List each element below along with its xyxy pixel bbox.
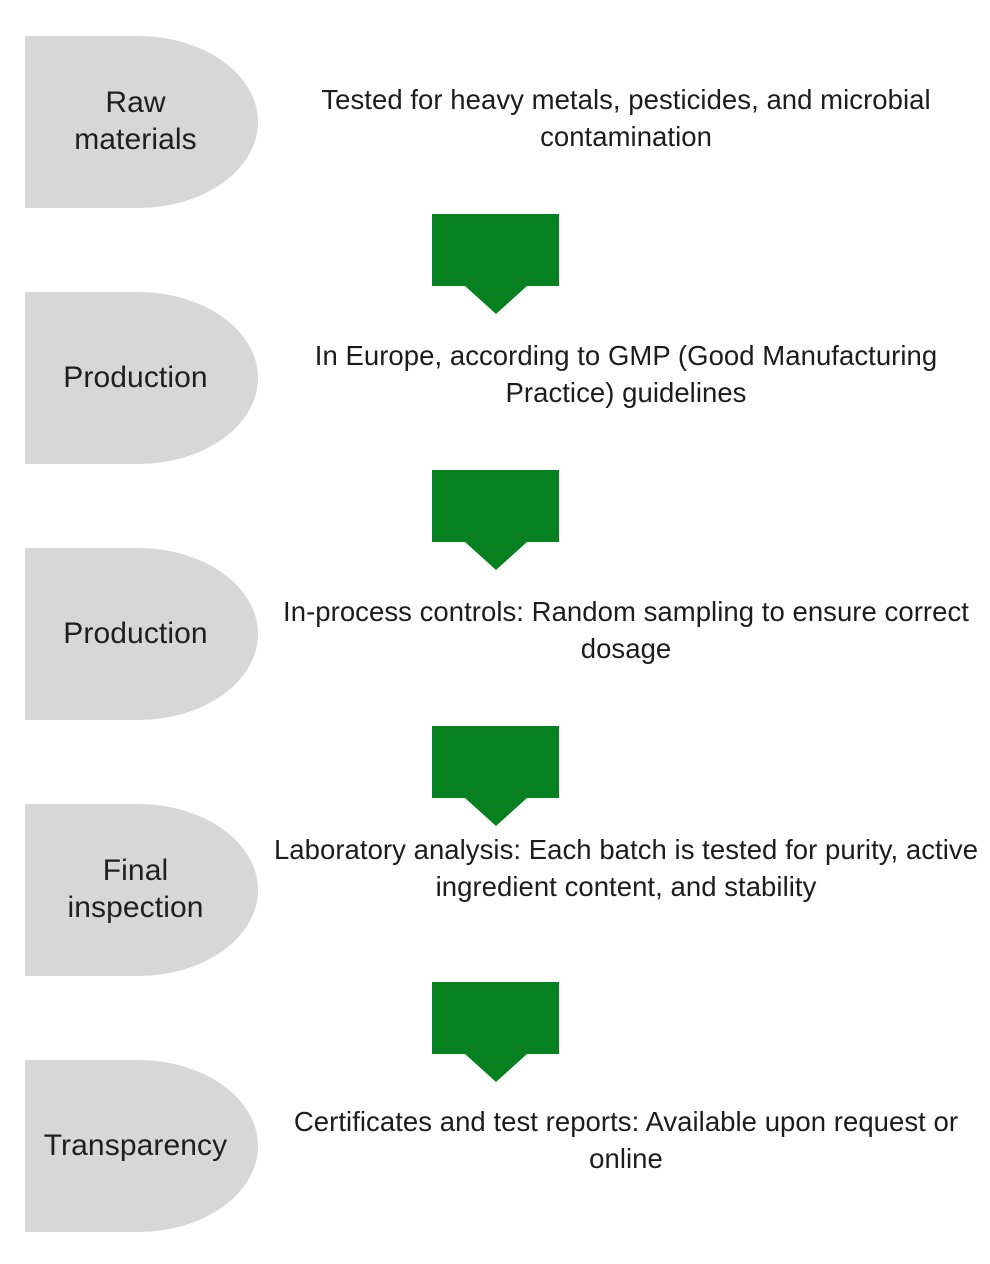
stage-label: Final inspection <box>67 853 203 926</box>
arrow-body <box>432 470 559 542</box>
arrow-tip <box>465 286 527 314</box>
arrow-tip <box>465 542 527 570</box>
arrow-tip <box>465 798 527 826</box>
arrow-tip <box>465 1054 527 1082</box>
process-flow-diagram: Raw materials Tested for heavy metals, p… <box>0 0 990 1264</box>
arrow-3-icon <box>432 726 559 826</box>
arrow-1-icon <box>432 214 559 314</box>
stage-label: Production <box>63 360 207 397</box>
arrow-2-icon <box>432 470 559 570</box>
stage-description-transparency: Certificates and test reports: Available… <box>268 1104 984 1177</box>
stage-description-final-inspection: Laboratory analysis: Each batch is teste… <box>268 832 984 905</box>
arrow-body <box>432 726 559 798</box>
stage-description-production-1: In Europe, according to GMP (Good Manufa… <box>268 338 984 411</box>
arrow-4-icon <box>432 982 559 1082</box>
arrow-body <box>432 982 559 1054</box>
stage-pill-raw-materials: Raw materials <box>25 36 258 208</box>
stage-pill-production-2: Production <box>25 548 258 720</box>
stage-description-raw-materials: Tested for heavy metals, pesticides, and… <box>268 82 984 155</box>
arrow-body <box>432 214 559 286</box>
stage-label: Production <box>63 616 207 653</box>
stage-label: Raw materials <box>74 85 197 158</box>
stage-description-production-2: In-process controls: Random sampling to … <box>268 594 984 667</box>
stage-pill-transparency: Transparency <box>25 1060 258 1232</box>
stage-pill-final-inspection: Final inspection <box>25 804 258 976</box>
stage-pill-production-1: Production <box>25 292 258 464</box>
stage-label: Transparency <box>44 1128 228 1165</box>
